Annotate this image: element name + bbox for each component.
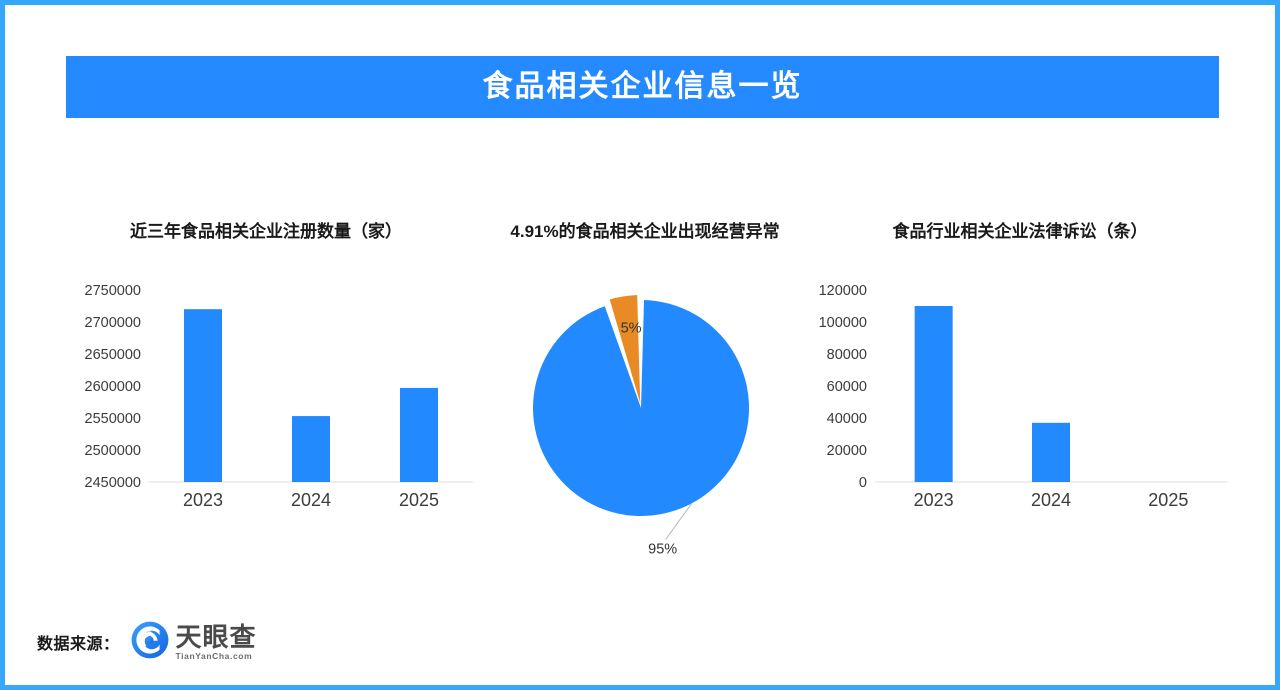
y-axis-tick-label: 2600000 (85, 379, 141, 395)
data-source-label: 数据来源： (37, 630, 120, 654)
y-axis-tick-label: 2750000 (85, 283, 141, 299)
x-axis-category-label: 2024 (1031, 490, 1071, 510)
bar[interactable] (184, 309, 222, 482)
tianyancha-aperture-icon (130, 620, 170, 665)
chart-panel-abnormal: 4.91%的食品相关企业出现经营异常 5%95% (485, 220, 805, 580)
x-axis-category-label: 2025 (1148, 490, 1188, 510)
y-axis-tick-label: 0 (859, 475, 867, 491)
infographic-page: 食品相关企业信息一览 近三年食品相关企业注册数量（家） 275000027000… (0, 0, 1280, 690)
y-axis-tick-label: 100000 (819, 315, 867, 331)
chart-panel-lawsuits: 食品行业相关企业法律诉讼（条） 120000100000800006000040… (795, 220, 1245, 580)
tianyancha-logo[interactable]: 天眼查 TianYanCha.com (130, 620, 257, 665)
tianyancha-logo-en: TianYanCha.com (176, 652, 257, 661)
pie-chart-abnormal: 5%95% (485, 220, 805, 580)
footer: 数据来源： (37, 615, 257, 669)
y-axis-tick-label: 120000 (819, 283, 867, 299)
x-axis-category-label: 2023 (183, 490, 223, 510)
y-axis-tick-label: 2450000 (85, 475, 141, 491)
title-banner: 食品相关企业信息一览 (66, 56, 1219, 118)
y-axis-tick-label: 2650000 (85, 347, 141, 363)
bar[interactable] (292, 416, 330, 482)
bar[interactable] (1032, 423, 1070, 482)
x-axis-category-label: 2023 (914, 490, 954, 510)
bar-chart-lawsuits: 1200001000008000060000400002000002023202… (795, 220, 1245, 520)
y-axis-tick-label: 40000 (827, 411, 867, 427)
bar-chart-registrations: 2750000270000026500002600000255000025000… (41, 220, 491, 520)
y-axis-tick-label: 80000 (827, 347, 867, 363)
x-axis-category-label: 2024 (291, 490, 331, 510)
y-axis-tick-label: 2500000 (85, 443, 141, 459)
x-axis-category-label: 2025 (399, 490, 439, 510)
pie-inner-label-abnormal: 5% (621, 320, 642, 336)
y-axis-tick-label: 2550000 (85, 411, 141, 427)
chart-panel-registrations: 近三年食品相关企业注册数量（家） 27500002700000265000026… (41, 220, 491, 580)
page-title: 食品相关企业信息一览 (483, 72, 803, 102)
tianyancha-logo-text: 天眼查 TianYanCha.com (176, 624, 257, 661)
y-axis-tick-label: 60000 (827, 379, 867, 395)
bar[interactable] (915, 306, 953, 482)
tianyancha-logo-cn: 天眼查 (176, 624, 257, 650)
bar[interactable] (400, 388, 438, 482)
pie-outer-label-normal: 95% (648, 541, 677, 557)
y-axis-tick-label: 20000 (827, 443, 867, 459)
y-axis-tick-label: 2700000 (85, 315, 141, 331)
